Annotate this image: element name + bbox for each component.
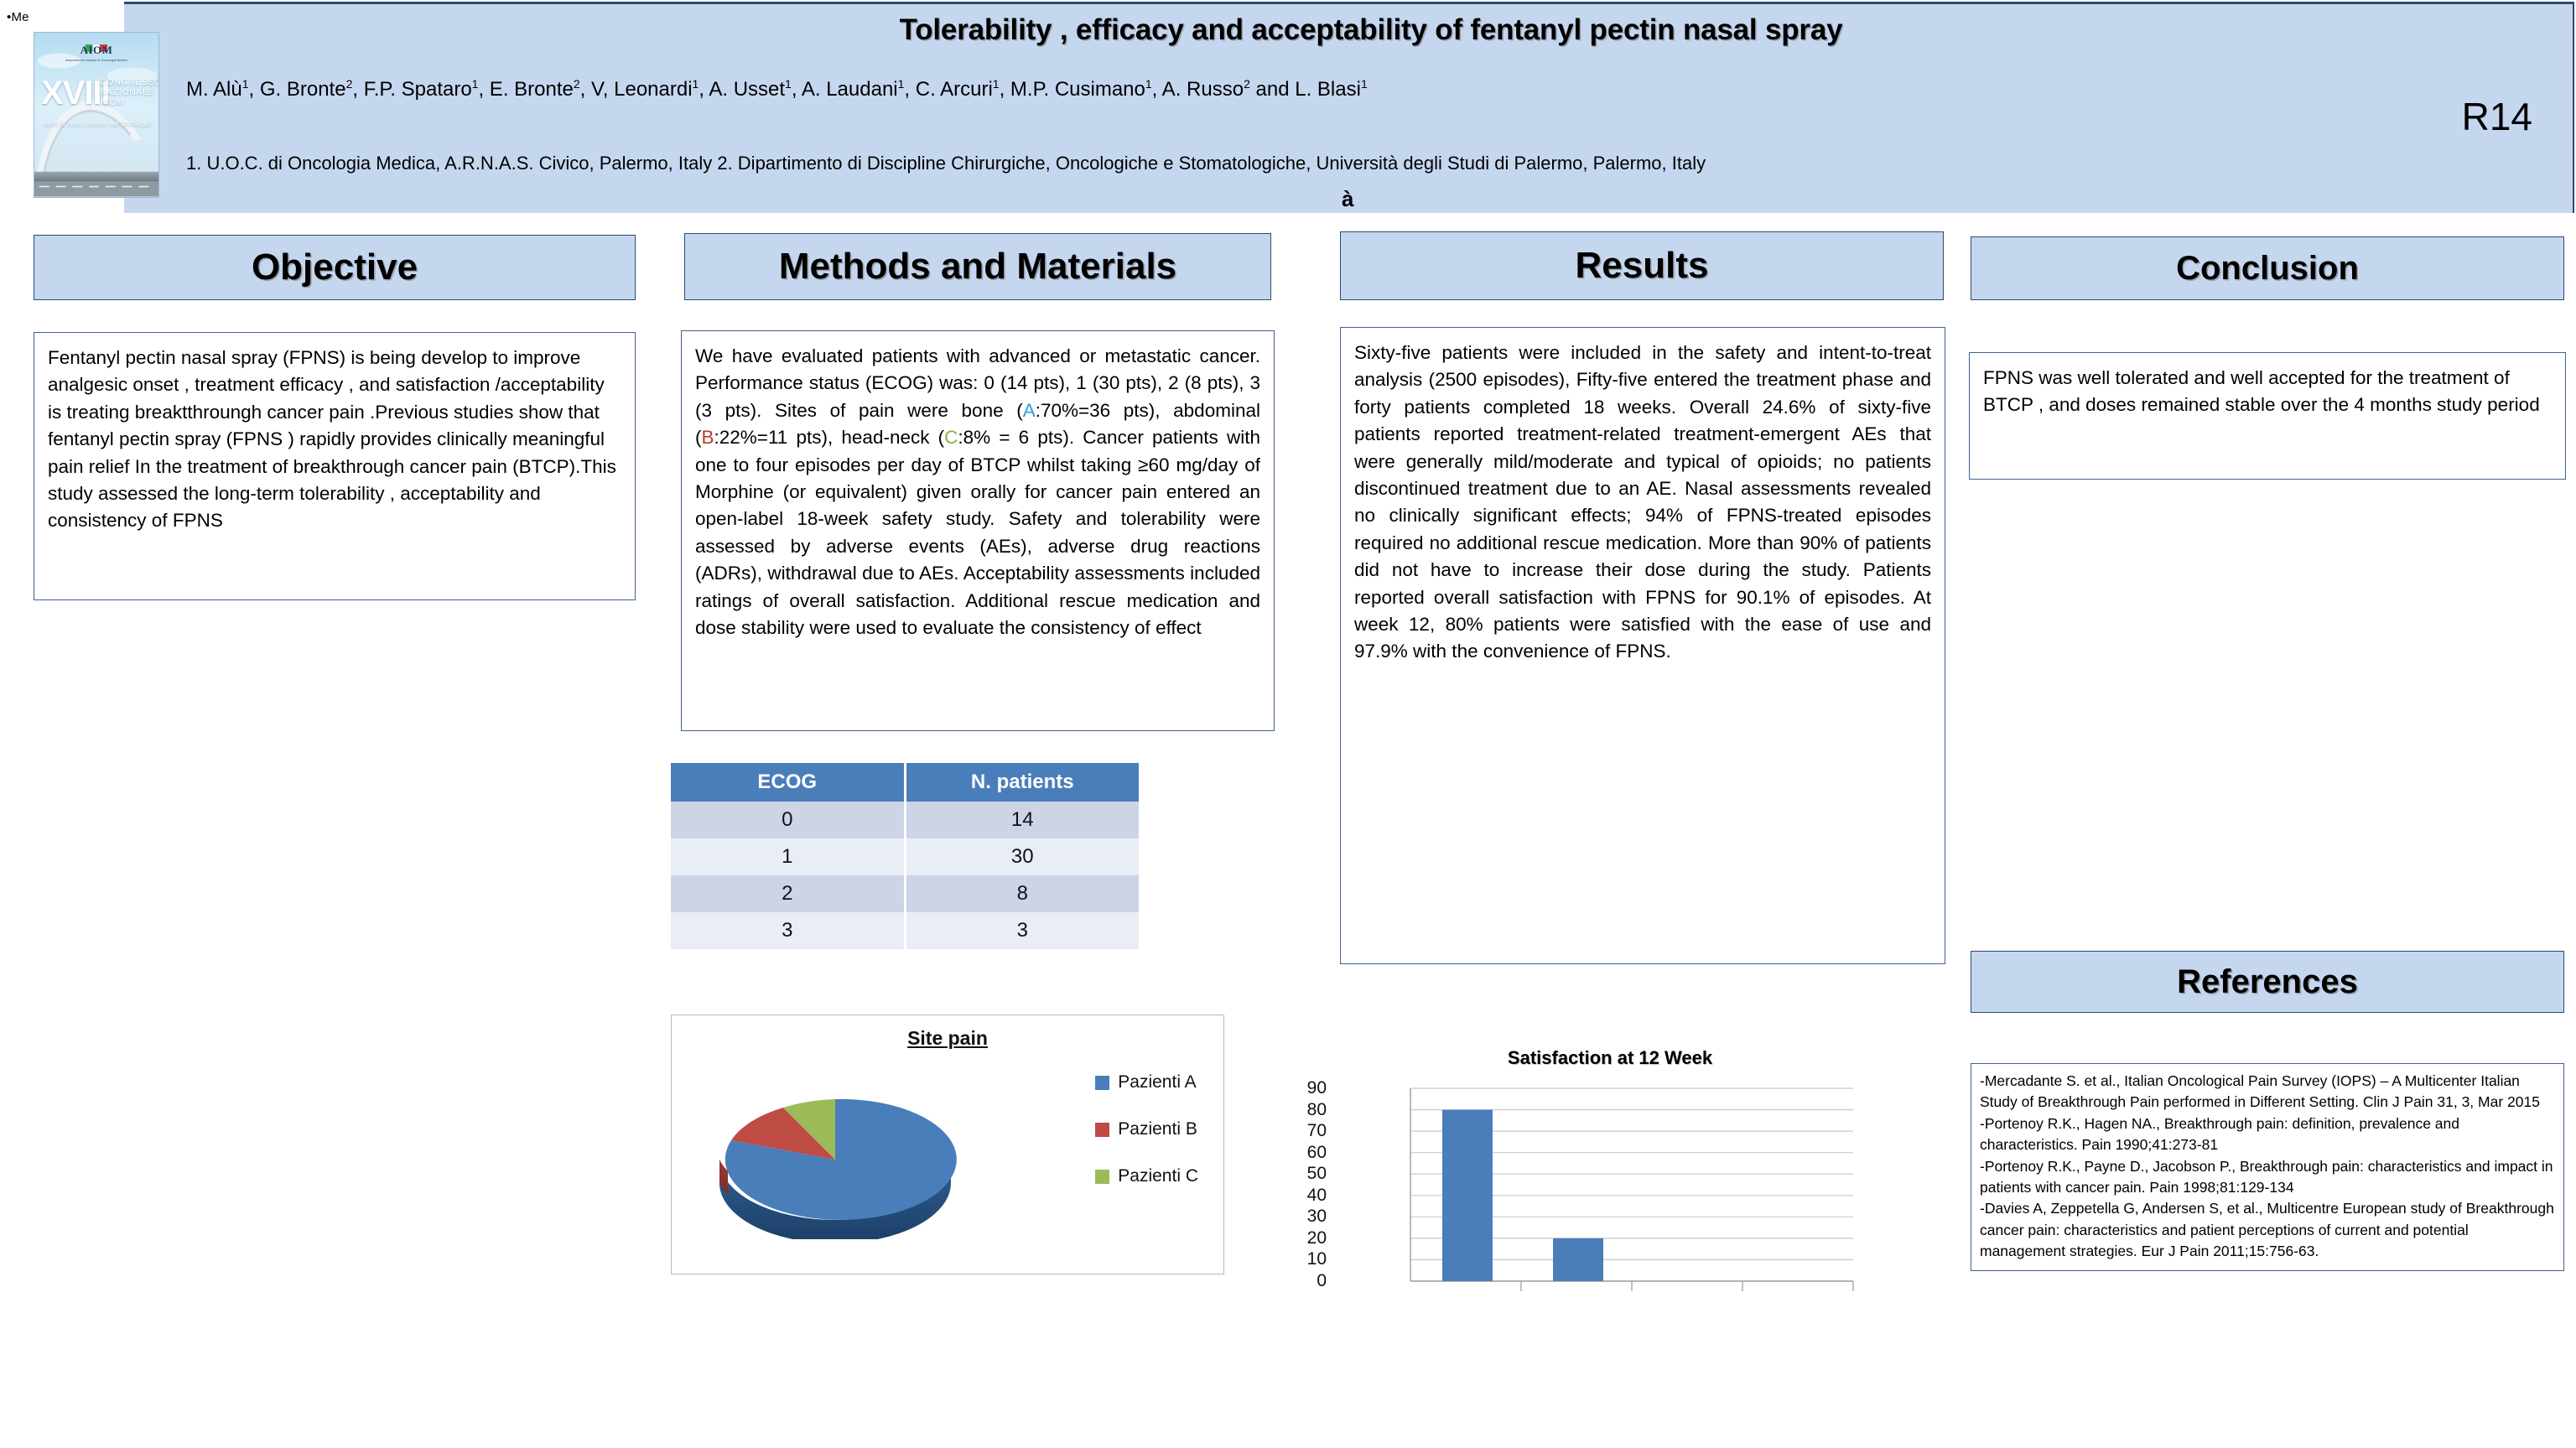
congress-name-line3: AIOM	[100, 98, 159, 108]
patients-value: 8	[905, 875, 1139, 912]
legend-label-a: Pazienti A	[1118, 1072, 1196, 1092]
bar-chart-graphic: 90 80 70 60 50 40 30 20 10 0	[1333, 1082, 1878, 1306]
congress-name-line1: CONGRESSO	[100, 78, 159, 88]
panel-results: Sixty-five patients were included in the…	[1340, 327, 1945, 964]
legend-item: Pazienti A	[1095, 1072, 1198, 1092]
legend-swatch-b-icon	[1095, 1123, 1109, 1137]
table-row: 1 30	[671, 838, 1139, 875]
section-title-conclusion: Conclusion	[2176, 250, 2359, 288]
section-header-objective: Objective	[34, 235, 636, 300]
methods-label-b: B	[702, 427, 714, 448]
bar-1	[1442, 1110, 1493, 1281]
methods-text-3: :22%=11 pts), head-neck (	[714, 427, 945, 448]
table-row: 2 8	[671, 875, 1139, 912]
panel-objective: Fentanyl pectin nasal spray (FPNS) is be…	[34, 332, 636, 600]
table-row: 3 3	[671, 912, 1139, 949]
congress-tagline: Aiom la casa comune dell'Oncologia	[43, 120, 153, 127]
pie-chart-svg	[709, 1059, 961, 1239]
pie-chart-legend: Pazienti A Pazienti B Pazienti C	[1095, 1072, 1198, 1186]
author-list: M. Alù1, G. Bronte2, F.P. Spataro1, E. B…	[186, 77, 2283, 101]
y-tick-90: 90	[1307, 1078, 1333, 1098]
ecog-value: 2	[671, 875, 905, 912]
ecog-value: 0	[671, 802, 905, 838]
methods-label-a: A	[1023, 400, 1036, 421]
methods-text-4: :8% = 6 pts). Cancer patients with one t…	[695, 427, 1260, 638]
poster-canvas: •Me	[0, 0, 2576, 1448]
y-tick-80: 80	[1307, 1100, 1333, 1120]
reference-item: -Davies A, Zeppetella G, Andersen S, et …	[1980, 1198, 2555, 1262]
section-title-objective: Objective	[252, 247, 418, 288]
bar-2	[1553, 1238, 1603, 1281]
congress-name-line2: NAZIONALE	[100, 88, 159, 98]
bar-chart-svg	[1333, 1082, 1878, 1306]
y-tick-20: 20	[1307, 1228, 1333, 1248]
methods-label-c: C	[944, 427, 958, 448]
reference-item: -Mercadante S. et al., Italian Oncologic…	[1980, 1071, 2555, 1113]
y-tick-10: 10	[1307, 1249, 1333, 1269]
conclusion-body: FPNS was well tolerated and well accepte…	[1983, 365, 2552, 419]
patients-value: 30	[905, 838, 1139, 875]
section-header-methods: Methods and Materials	[684, 233, 1271, 300]
aiom-brand-label: AIOM	[80, 44, 113, 56]
methods-body: We have evaluated patients with advanced…	[695, 343, 1260, 641]
pie-chart-title: Site pain	[672, 1027, 1223, 1050]
pie-chart-graphic	[709, 1059, 961, 1239]
legend-item: Pazienti C	[1095, 1166, 1198, 1186]
congress-name: CONGRESSO NAZIONALE AIOM	[100, 78, 159, 107]
affiliations: 1. U.O.C. di Oncologia Medica, A.R.N.A.S…	[186, 153, 2366, 174]
section-title-methods: Methods and Materials	[779, 246, 1176, 288]
reference-item: -Portenoy R.K., Payne D., Jacobson P., B…	[1980, 1156, 2555, 1199]
legend-label-c: Pazienti C	[1118, 1166, 1198, 1186]
y-tick-0: 0	[1317, 1271, 1333, 1291]
patients-value: 14	[905, 802, 1139, 838]
legend-label-b: Pazienti B	[1118, 1119, 1197, 1139]
congress-logo: AIOM Associazione Italiana di Oncologia …	[34, 32, 159, 198]
y-tick-70: 70	[1307, 1121, 1333, 1141]
legend-swatch-a-icon	[1095, 1076, 1109, 1090]
aiom-brand: AIOM Associazione Italiana di Oncologia …	[65, 43, 127, 62]
ecog-table: ECOG N. patients 0 14 1 30 2 8 3 3	[671, 763, 1139, 949]
y-tick-40: 40	[1307, 1186, 1333, 1206]
ecog-value: 1	[671, 838, 905, 875]
pie-chart-panel: Site pain	[671, 1015, 1224, 1274]
table-col-ecog: ECOG	[671, 763, 905, 802]
panel-conclusion: FPNS was well tolerated and well accepte…	[1969, 352, 2566, 480]
aiom-brand-sublabel: Associazione Italiana di Oncologia Medic…	[65, 59, 127, 62]
results-body: Sixty-five patients were included in the…	[1354, 340, 1931, 666]
legend-swatch-c-icon	[1095, 1170, 1109, 1184]
section-title-references: References	[2177, 963, 2358, 1001]
section-header-conclusion: Conclusion	[1971, 236, 2564, 300]
table-col-patients: N. patients	[905, 763, 1139, 802]
y-tick-50: 50	[1307, 1164, 1333, 1184]
stray-bullet-text: •Me	[7, 10, 29, 24]
legend-item: Pazienti B	[1095, 1119, 1198, 1139]
section-header-results: Results	[1340, 231, 1944, 300]
table-header-row: ECOG N. patients	[671, 763, 1139, 802]
poster-title: Tolerability , efficacy and acceptabilit…	[503, 13, 2239, 47]
patients-value: 3	[905, 912, 1139, 949]
ecog-value: 3	[671, 912, 905, 949]
reference-item: -Portenoy R.K., Hagen NA., Breakthrough …	[1980, 1113, 2555, 1156]
objective-body: Fentanyl pectin nasal spray (FPNS) is be…	[48, 345, 621, 535]
section-header-references: References	[1971, 951, 2564, 1013]
panel-references: -Mercadante S. et al., Italian Oncologic…	[1971, 1063, 2564, 1271]
table-row: 0 14	[671, 802, 1139, 838]
bar-chart-title: Satisfaction at 12 Week	[1342, 1047, 1878, 1069]
panel-methods: We have evaluated patients with advanced…	[681, 330, 1275, 731]
stray-character: à	[1342, 186, 1353, 212]
section-title-results: Results	[1576, 245, 1709, 287]
poster-code: R14	[2462, 94, 2532, 139]
y-tick-30: 30	[1307, 1207, 1333, 1227]
y-tick-60: 60	[1307, 1143, 1333, 1163]
